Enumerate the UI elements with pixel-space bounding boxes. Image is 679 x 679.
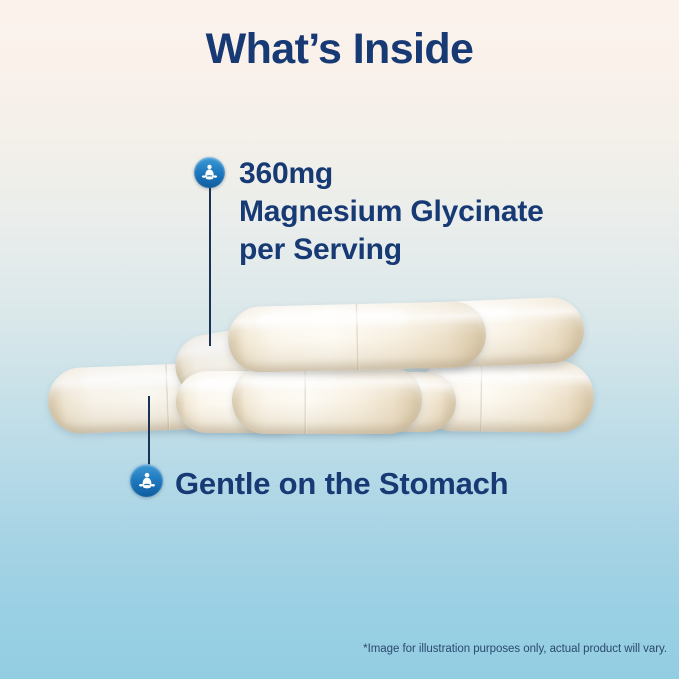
- capsule-highlight: [257, 311, 407, 332]
- capsule-highlight: [198, 379, 270, 395]
- callout-label-dosage: 360mg Magnesium Glycinate per Serving: [239, 155, 544, 268]
- meditation-lotus-icon: [130, 464, 163, 497]
- capsule-highlight: [252, 374, 338, 392]
- capsule: [171, 320, 298, 402]
- capsule-pile-image: [0, 0, 679, 679]
- capsule: [344, 372, 456, 432]
- pile-ground-shadow: [52, 412, 592, 438]
- product-infographic: What’s Inside: [0, 0, 679, 679]
- capsule-highlight: [415, 307, 514, 327]
- capsule-highlight: [81, 371, 231, 392]
- callout-label-gentle: Gentle on the Stomach: [175, 464, 508, 503]
- capsule-band: [355, 304, 360, 370]
- disclaimer-footnote: *Image for illustration purposes only, a…: [363, 643, 667, 655]
- capsule-band: [455, 301, 461, 367]
- capsule: [232, 366, 422, 434]
- capsule-highlight: [362, 380, 424, 396]
- callout-connector-line-gentle: [148, 396, 150, 468]
- capsule-highlight: [192, 336, 252, 360]
- capsule: [47, 359, 299, 435]
- capsule: [391, 296, 586, 370]
- capsule: [418, 359, 595, 433]
- meditation-lotus-icon: [194, 157, 225, 188]
- page-title: What’s Inside: [0, 26, 679, 73]
- capsule: [176, 371, 308, 433]
- capsule-contact-shadow: [420, 352, 580, 372]
- callout-connector-line-dosage: [209, 186, 211, 346]
- capsule-band: [479, 360, 483, 432]
- capsule-highlight: [440, 368, 528, 387]
- capsule-band: [165, 364, 171, 430]
- capsule: [227, 301, 487, 373]
- capsule-band: [304, 366, 307, 434]
- capsule-contact-shadow: [240, 356, 470, 378]
